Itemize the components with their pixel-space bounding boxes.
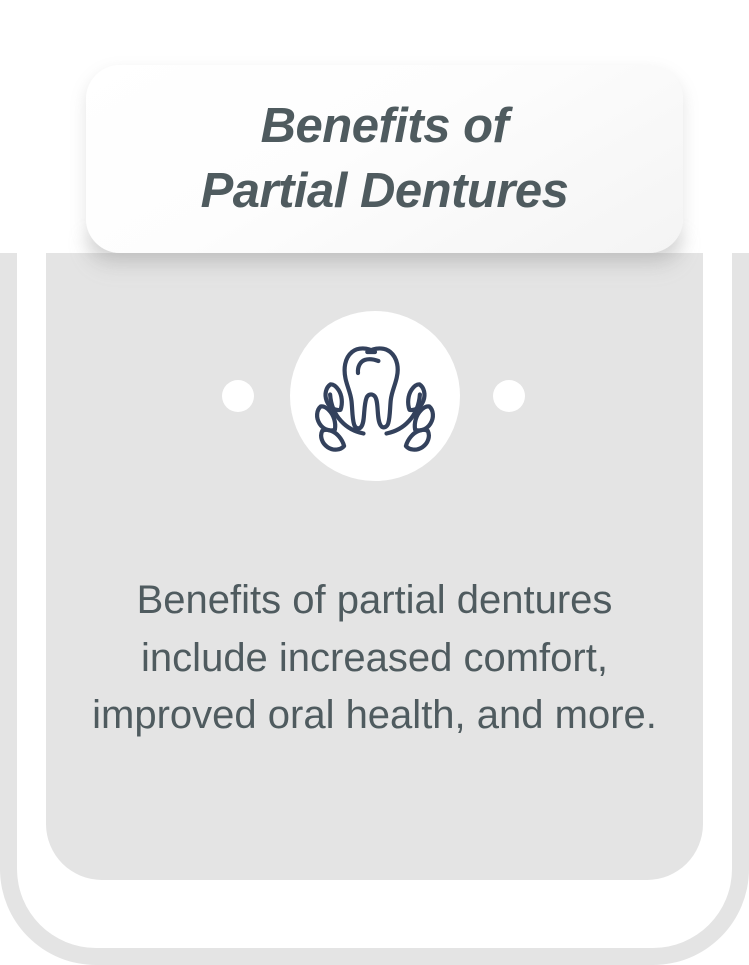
header-banner: Benefits of Partial Dentures: [86, 65, 683, 253]
content-card: Benefits of partial dentures include inc…: [46, 253, 703, 880]
tooth-laurel-icon: [313, 340, 437, 452]
decorative-dot-left: [222, 380, 254, 412]
icon-badge: [290, 311, 460, 481]
page-title: Benefits of Partial Dentures: [201, 94, 569, 223]
card-body-text: Benefits of partial dentures include inc…: [86, 572, 663, 745]
decorative-dot-right: [493, 380, 525, 412]
